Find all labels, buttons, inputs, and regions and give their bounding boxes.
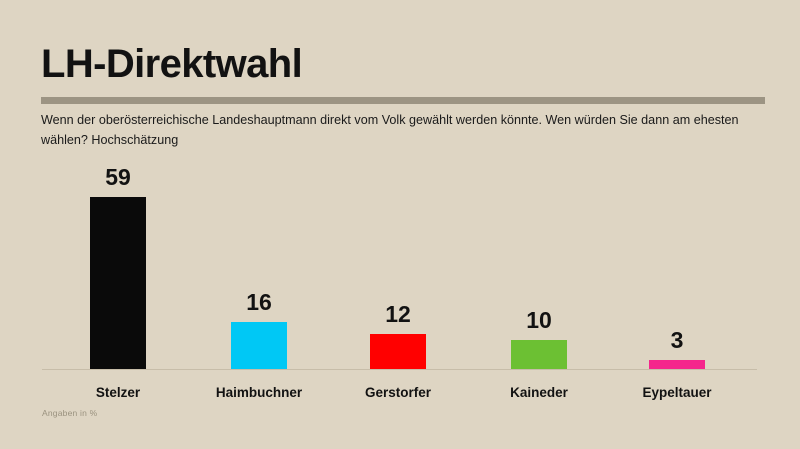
bar-column: 12 <box>328 0 468 369</box>
bar-value-label: 10 <box>526 309 552 332</box>
bar-category-label: Kaineder <box>469 385 609 400</box>
bar-column: 16 <box>189 0 329 369</box>
bar-column: 10 <box>469 0 609 369</box>
bar-category-label: Eypeltauer <box>607 385 747 400</box>
bar-category-label: Haimbuchner <box>189 385 329 400</box>
bar[interactable] <box>370 334 426 369</box>
bar-group: 59Stelzer <box>48 0 188 449</box>
bar-value-label: 12 <box>385 303 411 326</box>
bar-value-label: 16 <box>246 291 272 314</box>
bar-group: 3Eypeltauer <box>607 0 747 449</box>
bar-category-label: Gerstorfer <box>328 385 468 400</box>
bar[interactable] <box>649 360 705 369</box>
bar[interactable] <box>511 340 567 369</box>
chart-slide: LH-Direktwahl Wenn der oberösterreichisc… <box>0 0 800 449</box>
bar-chart-plot: 59Stelzer16Haimbuchner12Gerstorfer10Kain… <box>0 0 800 449</box>
bar[interactable] <box>90 197 146 369</box>
bar-group: 16Haimbuchner <box>189 0 329 449</box>
bar-value-label: 3 <box>671 329 684 352</box>
chart-footnote: Angaben in % <box>42 408 97 418</box>
bar-column: 59 <box>48 0 188 369</box>
bar-group: 10Kaineder <box>469 0 609 449</box>
bar-category-label: Stelzer <box>48 385 188 400</box>
bar-group: 12Gerstorfer <box>328 0 468 449</box>
bar[interactable] <box>231 322 287 369</box>
bar-column: 3 <box>607 0 747 369</box>
bar-value-label: 59 <box>105 166 131 189</box>
